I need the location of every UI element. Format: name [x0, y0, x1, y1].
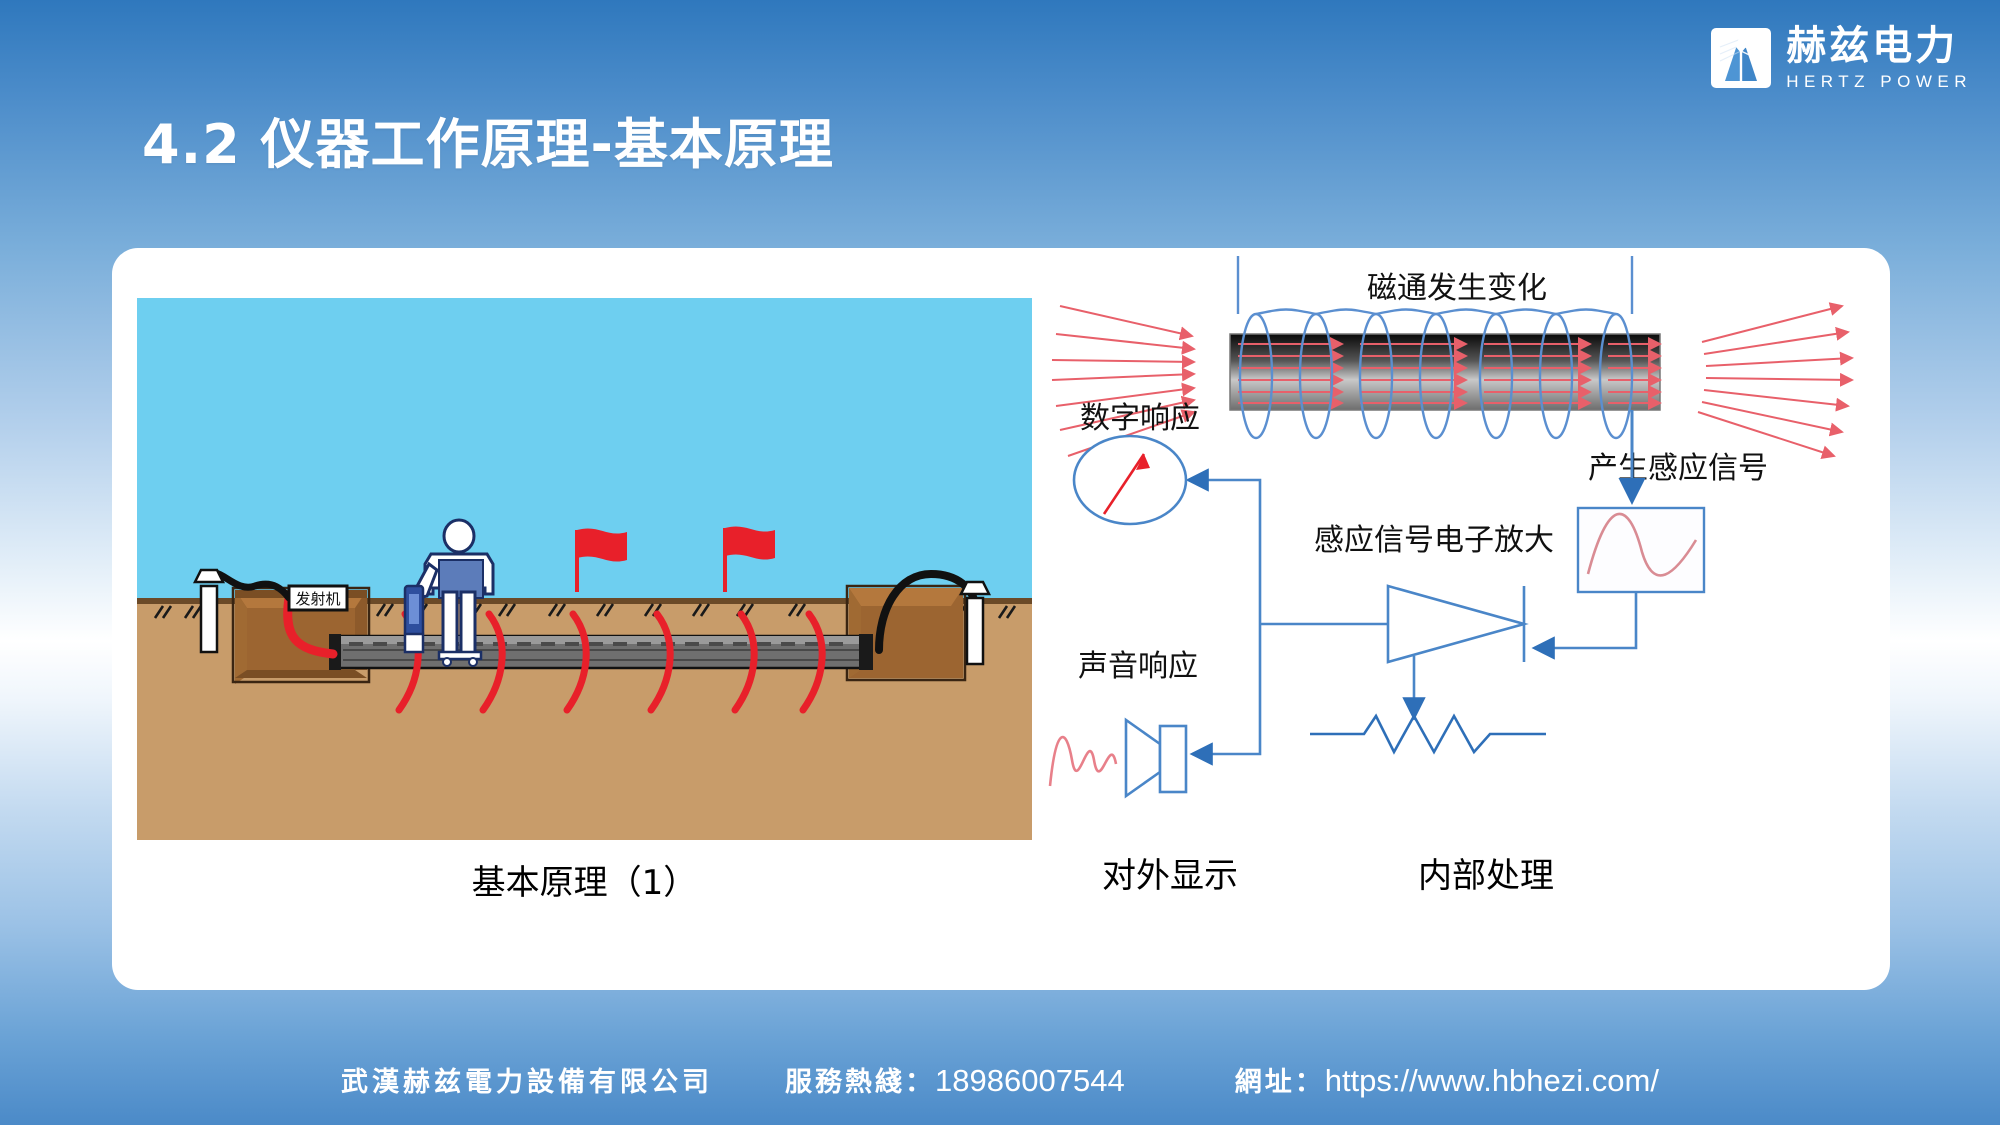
basic-principle-illustration: 发射机: [137, 298, 1032, 840]
brand-logo: 赫兹电力 HERTZ POWER: [1710, 26, 1972, 90]
svg-text:产生感应信号: 产生感应信号: [1588, 451, 1768, 486]
left-caption: 基本原理（1）: [137, 855, 1032, 904]
footer-hotline-number: 18986007544: [935, 1063, 1125, 1099]
content-card: 发射机: [112, 248, 1890, 990]
svg-text:感应信号电子放大: 感应信号电子放大: [1314, 523, 1554, 558]
brand-name-cn: 赫兹电力: [1786, 26, 1972, 66]
caption-external-display: 对外显示: [1102, 848, 1238, 897]
brand-name-en: HERTZ POWER: [1786, 73, 1972, 90]
footer-company: 武漢赫兹電力設備有限公司: [341, 1060, 713, 1099]
caption-internal-processing: 内部处理: [1418, 848, 1554, 897]
page-title: 4.2 仪器工作原理-基本原理: [142, 100, 834, 179]
footer-hotline-label: 服務熱綫：: [785, 1060, 935, 1099]
footer-website-label: 網址：: [1235, 1060, 1325, 1099]
svg-text:磁通发生变化: 磁通发生变化: [1367, 271, 1547, 306]
svg-text:发射机: 发射机: [295, 590, 340, 608]
right-captions: 对外显示 内部处理: [1042, 848, 1872, 897]
svg-text:声音响应: 声音响应: [1078, 649, 1198, 684]
footer-website-url[interactable]: https://www.hbhezi.com/: [1325, 1063, 1659, 1099]
svg-text:数字响应: 数字响应: [1080, 401, 1200, 436]
bridge-tower-icon: [1710, 27, 1772, 89]
footer-bar: 武漢赫兹電力設備有限公司 服務熱綫： 18986007544 網址： https…: [0, 1060, 2000, 1099]
working-principle-diagram: 磁通发生变化: [1042, 256, 1872, 876]
